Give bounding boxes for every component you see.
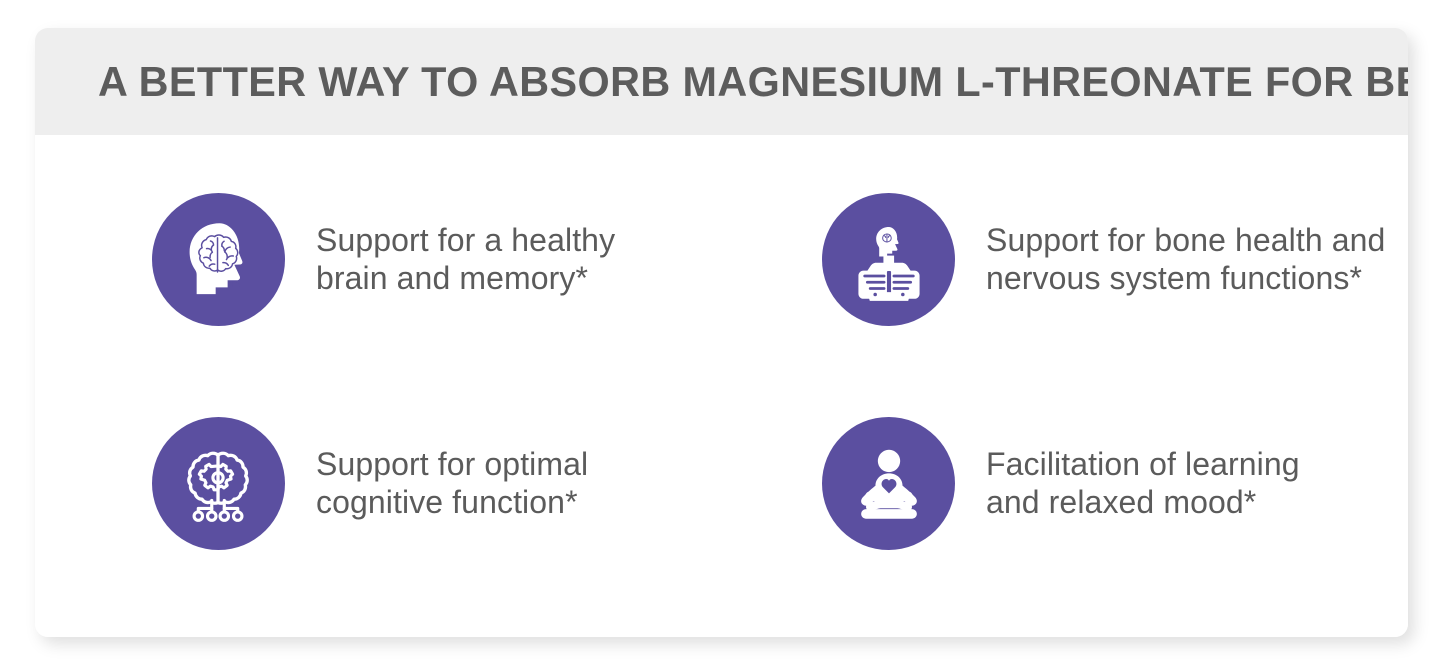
benefit-item-cognitive-function: Support for optimal cognitive function* [152, 417, 588, 550]
icon-badge [822, 417, 955, 550]
benefits-card: A BETTER WAY TO ABSORB MAGNESIUM L-THREO… [35, 28, 1408, 637]
card-header: A BETTER WAY TO ABSORB MAGNESIUM L-THREO… [35, 28, 1408, 135]
benefit-label: Facilitation of learning and relaxed moo… [986, 446, 1300, 522]
benefit-label: Support for a healthy brain and memory* [316, 222, 615, 298]
benefit-label: Support for optimal cognitive function* [316, 446, 588, 522]
icon-badge [152, 417, 285, 550]
meditation-lotus-heart-icon [840, 435, 938, 533]
page-root: A BETTER WAY TO ABSORB MAGNESIUM L-THREO… [0, 0, 1445, 667]
benefit-item-bone-nervous: Support for bone health and nervous syst… [822, 193, 1385, 326]
benefits-grid: Support for a healthy brain and memory* [35, 135, 1408, 637]
skeleton-torso-brain-icon [840, 211, 938, 309]
benefit-item-learning-mood: Facilitation of learning and relaxed moo… [822, 417, 1300, 550]
icon-badge [152, 193, 285, 326]
head-brain-icon [170, 211, 268, 309]
benefit-label: Support for bone health and nervous syst… [986, 222, 1385, 298]
page-title: A BETTER WAY TO ABSORB MAGNESIUM L-THREO… [35, 61, 1408, 103]
icon-badge [822, 193, 955, 326]
benefit-item-brain-memory: Support for a healthy brain and memory* [152, 193, 615, 326]
brain-gear-circuit-icon [170, 435, 268, 533]
